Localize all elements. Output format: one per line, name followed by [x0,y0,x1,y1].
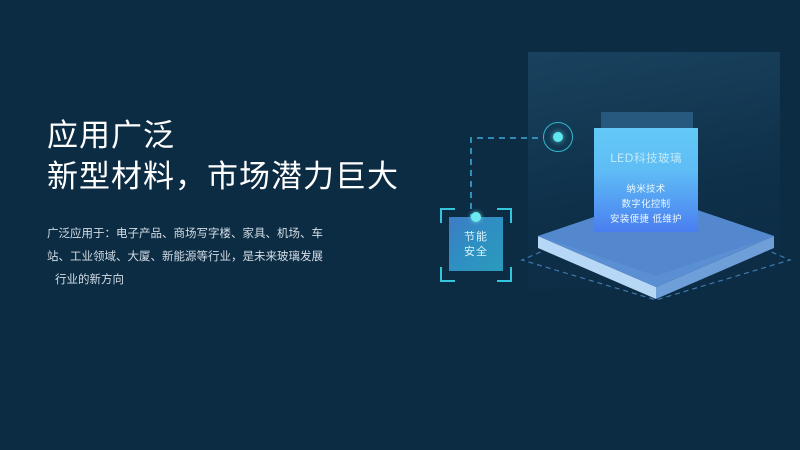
glass-feature-3: 安装便捷 低维护 [594,212,698,227]
badge-label-2: 安全 [464,244,488,259]
glass-feature-2: 数字化控制 [594,197,698,212]
glass-feature-1: 纳米技术 [594,182,698,197]
badge-label-1: 节能 [464,229,488,244]
page-title: 应用广泛 新型材料，市场潜力巨大 [47,118,467,196]
badge-dot-icon [471,212,481,222]
glass-panel-features: 纳米技术 数字化控制 安装便捷 低维护 [594,182,698,227]
feature-badge[interactable]: 节能 安全 [438,205,514,285]
slide-canvas: 应用广泛 新型材料，市场潜力巨大 广泛应用于：电子产品、商场写字楼、家具、机场、… [0,0,800,450]
title-line-2: 新型材料，市场潜力巨大 [47,159,467,196]
body-line-1: 广泛应用于：电子产品、商场写字楼、家具、机场、车 [47,222,365,245]
glass-panel: LED科技玻璃 纳米技术 数字化控制 安装便捷 低维护 [594,128,698,232]
badge-card: 节能 安全 [449,217,503,271]
glass-panel-title: LED科技玻璃 [594,150,698,166]
node-dot-icon [553,132,563,142]
title-line-1: 应用广泛 [47,118,467,155]
body-line-2: 站、工业领域、大厦、新能源等行业，是未来玻璃发展 [47,245,365,268]
body-paragraph: 广泛应用于：电子产品、商场写字楼、家具、机场、车 站、工业领域、大厦、新能源等行… [47,222,365,291]
body-line-3: 行业的新方向 [47,268,365,291]
